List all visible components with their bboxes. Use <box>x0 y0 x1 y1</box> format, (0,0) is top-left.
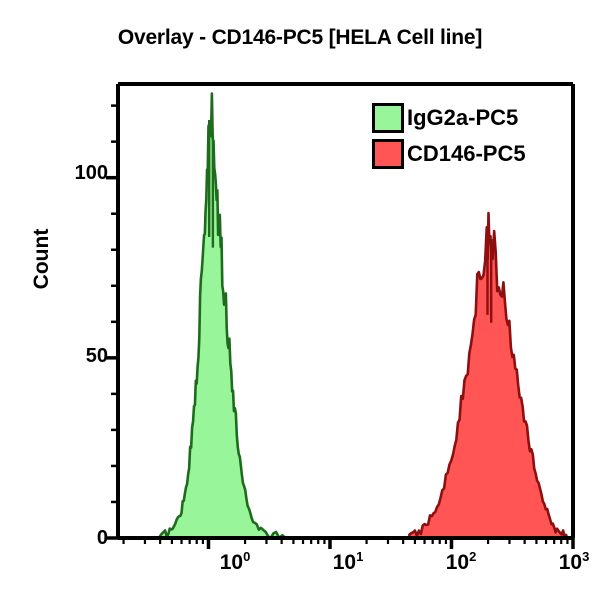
histogram-area-igg2a <box>160 94 285 539</box>
legend-label-cd146: CD146-PC5 <box>407 141 526 167</box>
legend-item-igg2a[interactable]: IgG2a-PC5 <box>372 100 572 136</box>
legend-swatch-igg2a <box>372 103 404 133</box>
flow-cytometry-histogram-figure: Overlay - CD146-PC5 [HELA Cell line] Cou… <box>0 0 600 600</box>
legend-item-cd146[interactable]: CD146-PC5 <box>372 136 572 172</box>
legend-label-igg2a: IgG2a-PC5 <box>407 105 518 131</box>
legend: IgG2a-PC5 CD146-PC5 <box>372 100 572 172</box>
plot-area <box>0 0 600 600</box>
legend-swatch-cd146 <box>372 139 404 169</box>
